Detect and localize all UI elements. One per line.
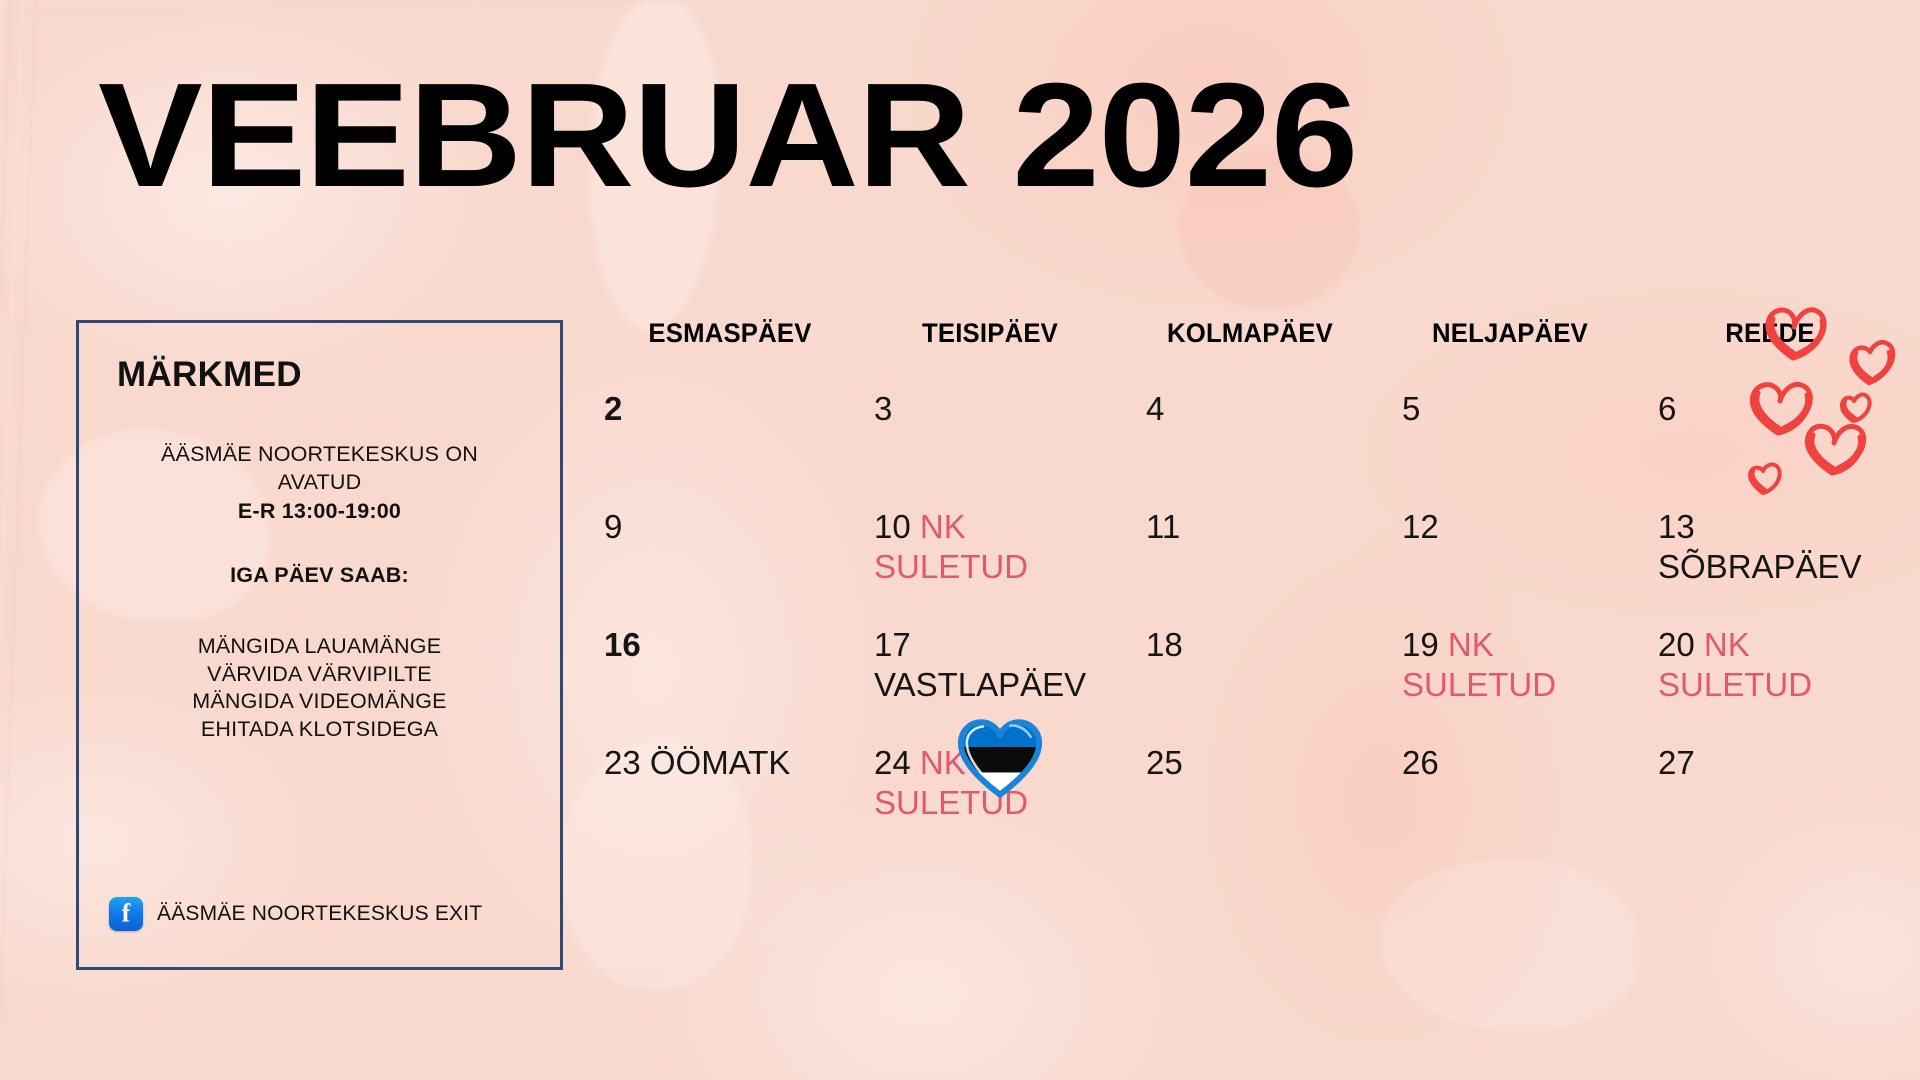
- doodle-hearts-icon: [1735, 288, 1915, 500]
- day-number: 26: [1402, 744, 1439, 781]
- day-number: 6: [1658, 390, 1676, 427]
- calendar-day-23[interactable]: 23 ÖÖMATK: [600, 735, 860, 853]
- activities-list: MÄNGIDA LAUAMÄNGE VÄRVIDA VÄRVIPILTE MÄN…: [95, 633, 544, 743]
- day-number: 19: [1402, 626, 1439, 663]
- calendar-day-20[interactable]: 20 NK SULETUD: [1640, 617, 1900, 735]
- day-number: 12: [1402, 508, 1439, 545]
- calendar-day-11[interactable]: 11: [1120, 499, 1380, 617]
- day-event-label: SÕBRAPÄEV: [1658, 548, 1862, 585]
- weekday-header-row: ESMASPÄEVTEISIPÄEVKOLMAPÄEVNELJAPÄEVREED…: [600, 318, 1900, 349]
- day-number: 3: [874, 390, 892, 427]
- activity-item: MÄNGIDA VIDEOMÄNGE: [95, 688, 544, 716]
- open-line-2: AVATUD: [95, 469, 544, 497]
- day-number: 10: [874, 508, 911, 545]
- day-number: 23: [604, 744, 641, 781]
- calendar-day-19[interactable]: 19 NK SULETUD: [1380, 617, 1640, 735]
- calendar-day-18[interactable]: 18: [1120, 617, 1380, 735]
- calendar-day-25[interactable]: 25: [1120, 735, 1380, 853]
- calendar-day-9[interactable]: 9: [600, 499, 860, 617]
- calendar-day-10[interactable]: 10 NK SULETUD: [860, 499, 1120, 617]
- calendar-week-row: 23 ÖÖMATK24 NK SULETUD252627: [600, 735, 1900, 853]
- day-number: 20: [1658, 626, 1695, 663]
- calendar-day-3[interactable]: 3: [860, 381, 1120, 499]
- every-day-heading: IGA PÄEV SAAB:: [95, 562, 544, 590]
- calendar-day-26[interactable]: 26: [1380, 735, 1640, 853]
- facebook-link[interactable]: ÄÄSMÄE NOORTEKESKUS EXIT: [95, 897, 544, 931]
- day-number: 24: [874, 744, 911, 781]
- day-number: 13: [1658, 508, 1695, 545]
- calendar-day-27[interactable]: 27: [1640, 735, 1900, 853]
- day-number: 9: [604, 508, 622, 545]
- notes-heading: MÄRKMED: [117, 355, 544, 395]
- opening-info: ÄÄSMÄE NOORTEKESKUS ON AVATUD: [95, 441, 544, 496]
- activity-item: VÄRVIDA VÄRVIPILTE: [95, 661, 544, 689]
- day-number: 25: [1146, 744, 1183, 781]
- weekday-header-0: ESMASPÄEV: [604, 318, 856, 349]
- opening-hours: E-R 13:00-19:00: [95, 498, 544, 526]
- day-number: 16: [604, 626, 641, 663]
- hours-text: E-R 13:00-19:00: [95, 498, 544, 526]
- notes-panel: MÄRKMED ÄÄSMÄE NOORTEKESKUS ON AVATUD E-…: [76, 320, 563, 970]
- calendar-week-row: 910 NK SULETUD111213 SÕBRAPÄEV: [600, 499, 1900, 617]
- calendar-day-13[interactable]: 13 SÕBRAPÄEV: [1640, 499, 1900, 617]
- calendar-day-4[interactable]: 4: [1120, 381, 1380, 499]
- weekday-header-3: NELJAPÄEV: [1384, 318, 1636, 349]
- facebook-icon[interactable]: [109, 897, 143, 931]
- estonia-flag-heart-icon: [957, 718, 1043, 798]
- open-line-1: ÄÄSMÄE NOORTEKESKUS ON: [95, 441, 544, 469]
- day-number: 11: [1146, 508, 1180, 545]
- day-event-label: VASTLAPÄEV: [874, 666, 1086, 703]
- day-number: 18: [1146, 626, 1183, 663]
- day-event-label: ÖÖMATK: [641, 744, 791, 781]
- paper-blot: [1380, 860, 1640, 1030]
- calendar-week-row: 1617 VASTLAPÄEV1819 NK SULETUD20 NK SULE…: [600, 617, 1900, 735]
- weekday-header-1: TEISIPÄEV: [864, 318, 1116, 349]
- day-number: 5: [1402, 390, 1420, 427]
- calendar-weeks: 23456910 NK SULETUD111213 SÕBRAPÄEV1617 …: [600, 381, 1900, 853]
- activity-item: EHITADA KLOTSIDEGA: [95, 716, 544, 744]
- calendar-grid: ESMASPÄEVTEISIPÄEVKOLMAPÄEVNELJAPÄEVREED…: [600, 318, 1900, 853]
- every-day-label: IGA PÄEV SAAB:: [95, 562, 544, 590]
- facebook-page-name: ÄÄSMÄE NOORTEKESKUS EXIT: [157, 902, 482, 926]
- calendar-page: VEEBRUAR 2026 MÄRKMED ÄÄSMÄE NOORTEKESKU…: [0, 0, 1920, 1080]
- day-number: 2: [604, 390, 622, 427]
- calendar-week-row: 23456: [600, 381, 1900, 499]
- day-number: 4: [1146, 390, 1164, 427]
- weekday-header-2: KOLMAPÄEV: [1124, 318, 1376, 349]
- activity-item: MÄNGIDA LAUAMÄNGE: [95, 633, 544, 661]
- day-number: 27: [1658, 744, 1695, 781]
- day-number: 17: [874, 626, 911, 663]
- calendar-day-16[interactable]: 16: [600, 617, 860, 735]
- page-title: VEEBRUAR 2026: [98, 62, 1357, 210]
- calendar-day-2[interactable]: 2: [600, 381, 860, 499]
- calendar-day-12[interactable]: 12: [1380, 499, 1640, 617]
- calendar-day-5[interactable]: 5: [1380, 381, 1640, 499]
